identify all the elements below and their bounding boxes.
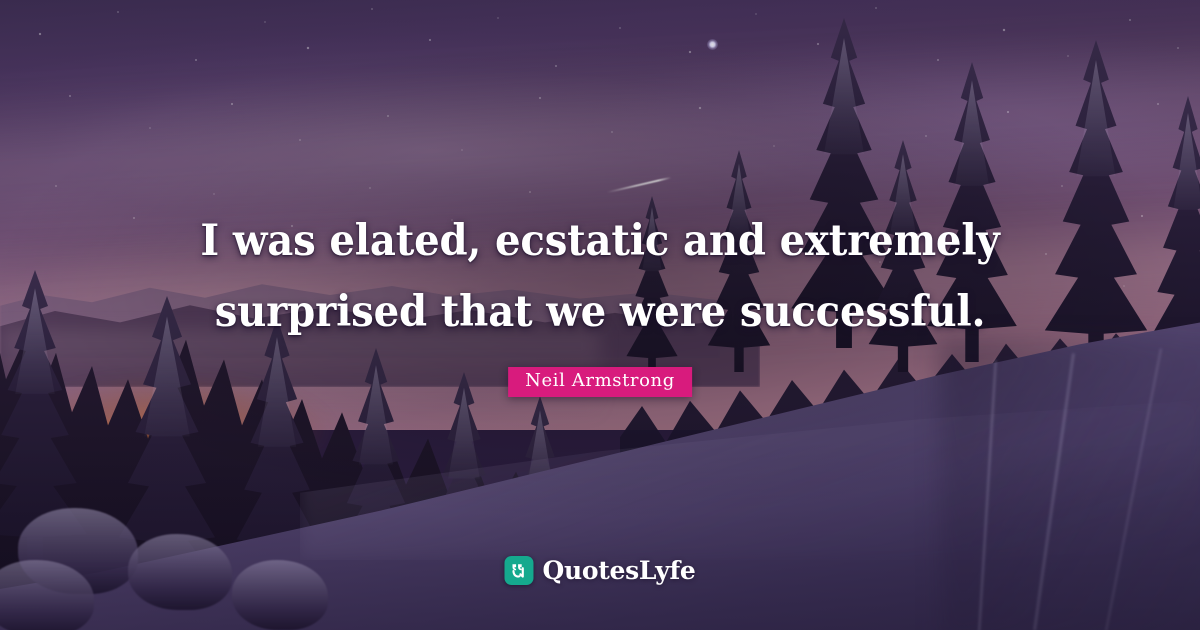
brand-logo[interactable]: QuotesLyfe — [504, 556, 695, 585]
quote-card: I was elated, ecstatic and extremely sur… — [0, 0, 1200, 630]
brand-name: QuotesLyfe — [542, 557, 695, 584]
author-badge: Neil Armstrong — [508, 367, 692, 397]
quote-text: I was elated, ecstatic and extremely sur… — [0, 206, 1200, 348]
quote-line-1: I was elated, ecstatic and extremely — [39, 206, 1161, 277]
quote-marks-icon — [504, 556, 533, 585]
card-content: I was elated, ecstatic and extremely sur… — [0, 0, 1200, 630]
quote-line-2: surprised that we were successful. — [39, 277, 1161, 348]
